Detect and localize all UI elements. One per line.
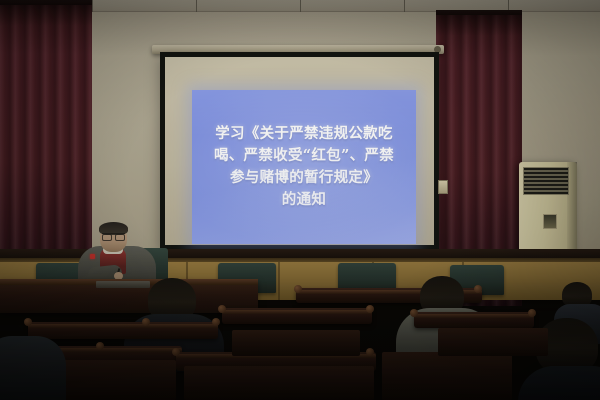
slide-line-4: 的通知 [282, 189, 326, 211]
ac-display-panel[interactable] [543, 214, 557, 229]
meeting-room-photo: 学习《关于严禁违规公款吃 喝、严禁收受“红包”、严禁 参与赌博的暂行规定》 的通… [0, 0, 600, 400]
bench-post-cap [528, 309, 536, 317]
bench-post-cap [410, 309, 418, 317]
bench-post-cap [294, 285, 302, 293]
bench-post-cap [218, 305, 226, 313]
glasses-icon [102, 233, 125, 239]
curtain-shadow-right [436, 10, 522, 36]
red-badge [90, 254, 95, 259]
bench-rail-2b [414, 314, 534, 318]
curtain-shadow-left [0, 0, 92, 26]
projected-slide: 学习《关于严禁违规公款吃 喝、严禁收受“红包”、严禁 参与赌博的暂行规定》 的通… [192, 90, 416, 244]
bench-post-cap [142, 318, 150, 326]
bench-post-cap [366, 305, 374, 313]
bench-post-cap [24, 318, 32, 326]
slide-line-1: 学习《关于严禁违规公款吃 [215, 123, 393, 145]
audience-member-5 [0, 330, 62, 400]
bench-post-cap [96, 342, 104, 350]
wall-switch-plate[interactable] [438, 180, 448, 194]
bench-seat-panel-2 [184, 366, 374, 400]
bench-seat-panel-3 [382, 352, 512, 400]
slide-line-3: 参与赌博的暂行规定》 [230, 167, 378, 189]
slide-line-2: 喝、严禁收受“红包”、严禁 [214, 145, 394, 167]
audience-body-4 [518, 366, 600, 400]
bench-post-cap [212, 318, 220, 326]
ac-louver-grille [523, 167, 569, 195]
seated-speaker [72, 222, 158, 284]
bench-seat-panel-4 [232, 330, 360, 356]
audience-body-5 [0, 336, 66, 400]
bench-post-cap [366, 348, 374, 356]
bench-row-2b [414, 312, 534, 328]
bench-rail-3 [28, 324, 218, 328]
bench-row-2 [222, 308, 372, 324]
bench-rail-2 [222, 310, 372, 314]
bench-seat-panel-5 [438, 328, 548, 356]
bench-post-cap [172, 348, 180, 356]
